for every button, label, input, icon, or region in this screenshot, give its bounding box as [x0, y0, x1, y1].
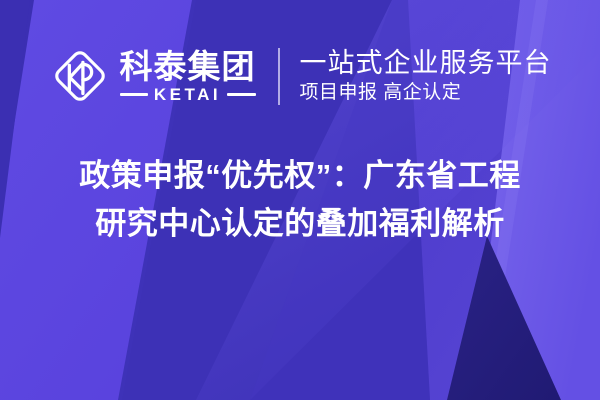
wordmark-dash-left	[120, 93, 148, 96]
tagline-secondary: 项目申报 高企认定	[300, 81, 552, 105]
brand-header: 科泰集团 KETAI 一站式企业服务平台 项目申报 高企认定	[0, 40, 600, 112]
tagline-block: 一站式企业服务平台 项目申报 高企认定	[300, 47, 552, 105]
headline: 政策申报“优先权”：广东省工程 研究中心认定的叠加福利解析	[0, 152, 600, 248]
tagline-primary: 一站式企业服务平台	[300, 47, 552, 79]
ketai-diamond-monogram-icon	[49, 45, 111, 107]
vertical-divider	[278, 48, 280, 105]
logo-wordmark: 科泰集团 KETAI	[120, 49, 256, 103]
company-name-en-row: KETAI	[120, 86, 256, 103]
headline-line-2: 研究中心认定的叠加福利解析	[14, 200, 586, 248]
promotional-banner: 科泰集团 KETAI 一站式企业服务平台 项目申报 高企认定 政策申报“优先权”…	[0, 0, 600, 400]
company-name-cn: 科泰集团	[120, 50, 256, 84]
headline-line-1: 政策申报“优先权”：广东省工程	[14, 152, 586, 200]
logo-lockup: 科泰集团 KETAI	[49, 45, 256, 107]
wordmark-dash-right	[227, 93, 255, 96]
company-name-en: KETAI	[153, 86, 222, 103]
banner-content: 科泰集团 KETAI 一站式企业服务平台 项目申报 高企认定 政策申报“优先权”…	[0, 0, 600, 400]
